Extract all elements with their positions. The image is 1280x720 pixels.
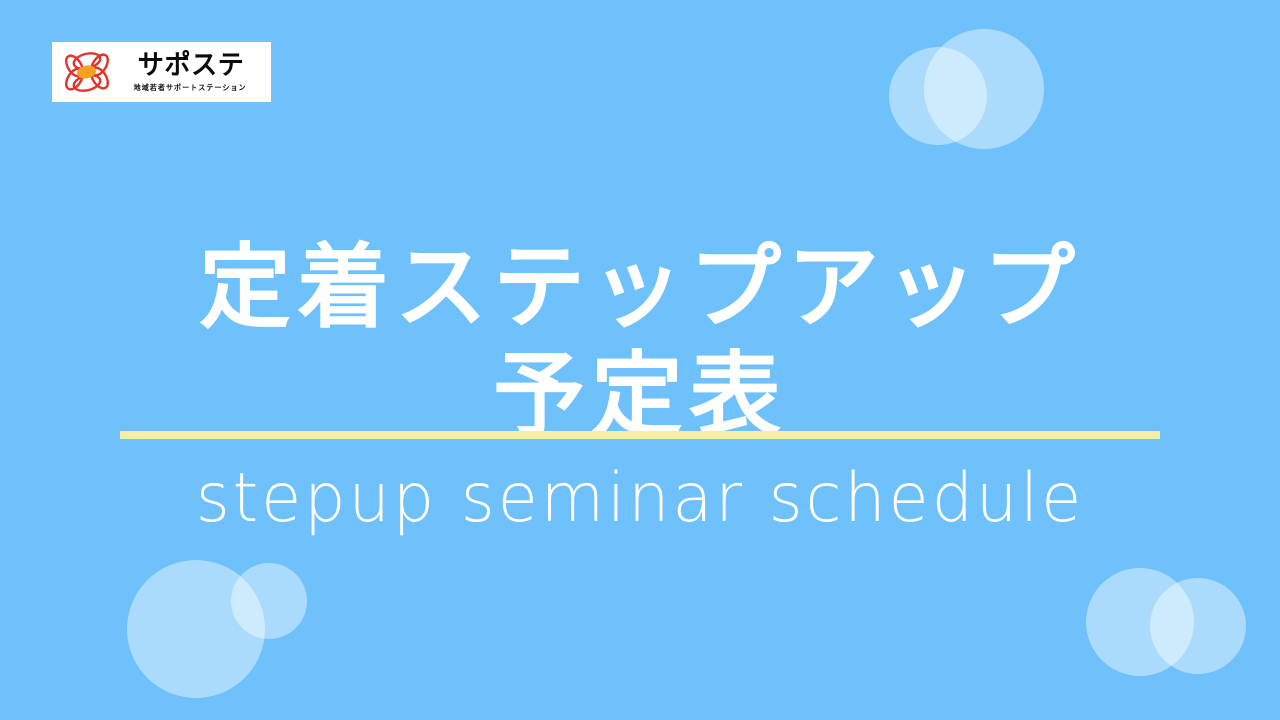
decor-circle-bottom-right-left <box>1086 568 1194 676</box>
decor-circle-bottom-left-large <box>127 560 265 698</box>
logo-text-block: サポステ 地域若者サポートステーション <box>116 52 265 92</box>
logo-wordmark: サポステ <box>137 52 244 79</box>
decor-circle-top-right-small <box>889 47 987 145</box>
page-subtitle: stepup seminar schedule <box>26 458 1255 540</box>
saposute-logo: サポステ 地域若者サポートステーション <box>52 42 271 102</box>
page-title-line-1: 定着ステップアップ <box>0 234 1280 342</box>
decor-circle-bottom-left-small <box>231 563 307 639</box>
decor-circle-top-right-large <box>924 29 1044 149</box>
decor-circle-bottom-right-right <box>1150 578 1246 674</box>
logo-tagline: 地域若者サポートステーション <box>134 84 247 92</box>
title-slide: サポステ 地域若者サポートステーション 定着ステップアップ 予定表 stepup… <box>0 0 1280 720</box>
page-title: 定着ステップアップ 予定表 <box>0 234 1280 450</box>
saposute-flower-mark-icon <box>60 49 114 95</box>
title-divider <box>120 431 1160 439</box>
